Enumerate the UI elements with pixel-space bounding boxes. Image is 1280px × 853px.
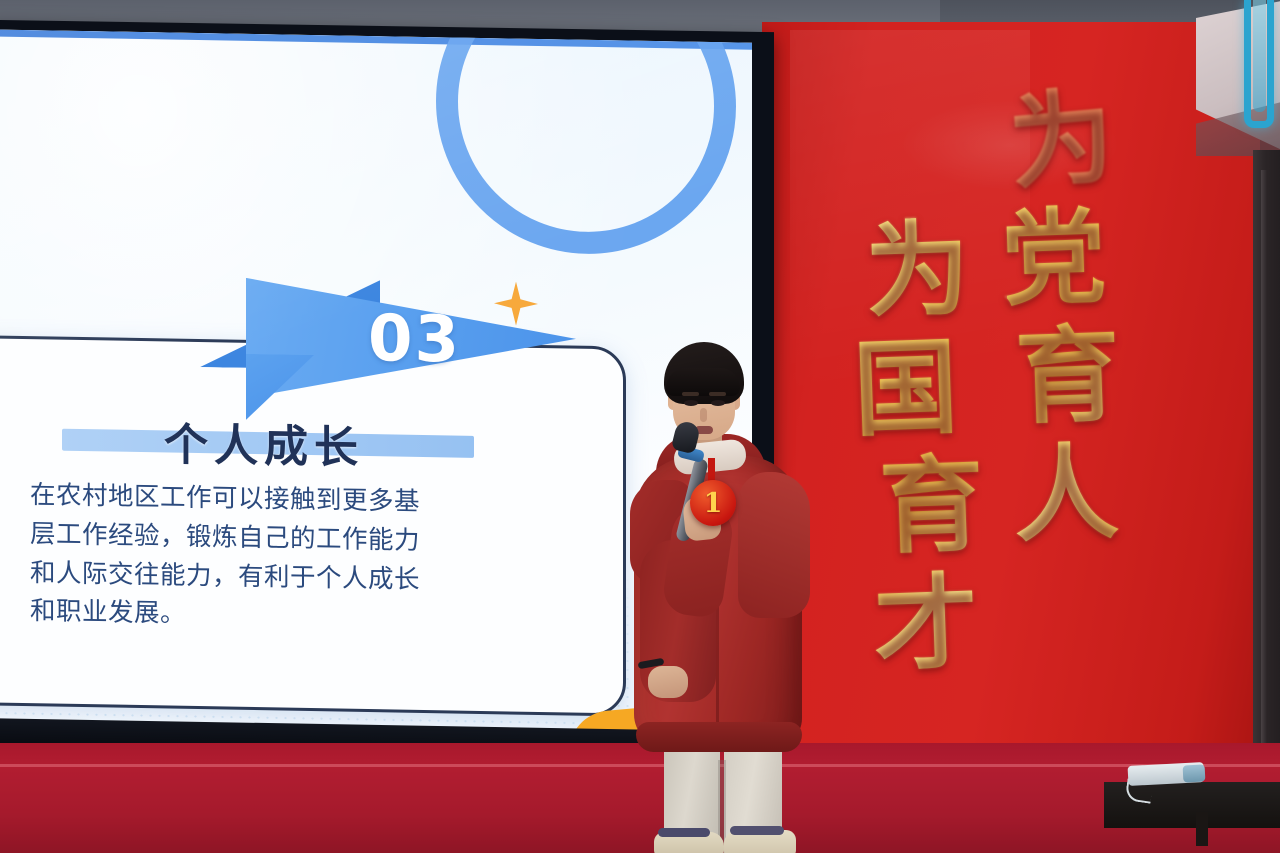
device-cap	[1183, 764, 1206, 782]
blue-circle-arc-decoration	[436, 29, 736, 256]
jacket-shoulder-right	[738, 472, 810, 618]
calligraphy-right-column: 为 党 育 人	[1000, 86, 1128, 562]
calligraphy-left-column: 为 国 育 才	[854, 216, 990, 692]
hair-fringe	[666, 368, 740, 396]
calligraphy-char: 才	[872, 570, 990, 678]
calligraphy-char: 国	[852, 334, 982, 442]
contestant-badge: 1	[690, 480, 736, 526]
hand-lower	[648, 666, 688, 698]
eyebrow-right	[709, 392, 726, 396]
slide-title: 个人成长	[164, 408, 364, 475]
shoe-left-trim	[658, 828, 710, 837]
calligraphy-char: 为	[1005, 84, 1118, 197]
orange-star-icon	[494, 281, 538, 326]
jacket-hem	[636, 722, 802, 752]
right-column-pipe	[1261, 170, 1267, 780]
calligraphy-char: 人	[1012, 440, 1128, 548]
eye-left	[684, 400, 698, 406]
slide-body-text: 在农村地区工作可以接触到更多基 层工作经验，锻炼自己的工作能力 和人际交往能力，…	[30, 476, 522, 640]
shoe-right-trim	[730, 826, 784, 835]
table-leg	[1196, 812, 1208, 846]
calligraphy-char: 党	[1000, 204, 1120, 312]
nose	[700, 408, 707, 422]
speaker-person: 1	[612, 330, 842, 853]
eye-right	[711, 400, 725, 406]
calligraphy-char: 为	[864, 216, 978, 324]
tube-light-glow	[1253, 0, 1266, 112]
calligraphy-char: 育	[1014, 322, 1124, 430]
badge-number: 1	[704, 490, 723, 517]
eyebrow-left	[682, 392, 699, 396]
stage-photo-scene: 为 党 育 人 为 国 育 才 03 个人成长 在农村地区工作可以接触到更	[0, 0, 1280, 853]
section-number: 03	[368, 302, 461, 378]
calligraphy-char: 育	[878, 452, 986, 560]
